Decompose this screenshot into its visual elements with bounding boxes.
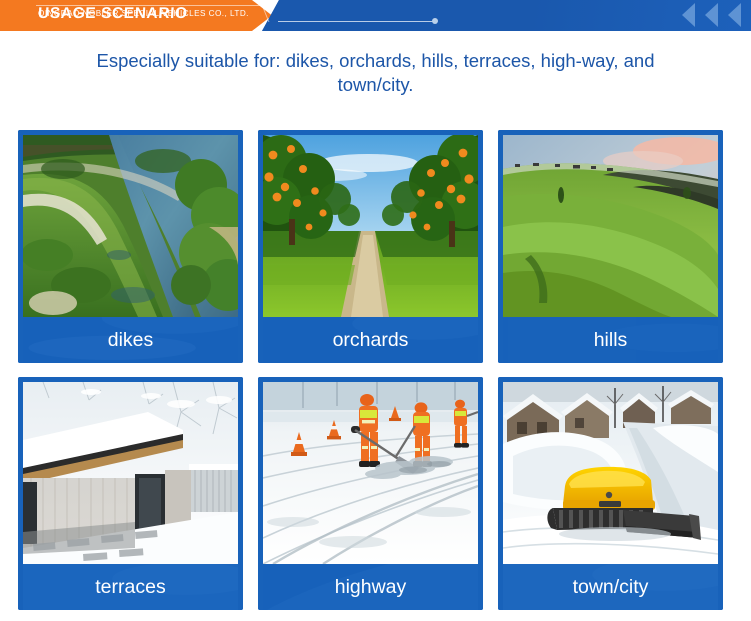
scene-image-orange-grove-rows bbox=[263, 135, 478, 317]
header-rule-top bbox=[36, 5, 268, 6]
card-label: highway bbox=[335, 576, 407, 599]
card-label: town/city bbox=[573, 576, 649, 599]
header-rule-bottom bbox=[278, 21, 434, 22]
scene-image-yellow-tracked-snow-plow-street bbox=[503, 382, 718, 564]
card-label: hills bbox=[594, 329, 628, 352]
scenario-card-highway[interactable]: highway bbox=[258, 377, 483, 610]
company-name: QINGDAO NOBLER SPECIAL VEHICLES CO., LTD… bbox=[38, 9, 249, 18]
scenario-card-hills[interactable]: hills bbox=[498, 130, 723, 363]
scenario-card-town-city[interactable]: town/city bbox=[498, 377, 723, 610]
page-headline: Especially suitable for: dikes, orchards… bbox=[76, 49, 676, 97]
card-caption-orchards: orchards bbox=[263, 317, 478, 363]
card-label: dikes bbox=[108, 329, 154, 352]
scene-image-snow-covered-house-terrace bbox=[23, 382, 238, 564]
page-header: USAGE SCENARIO QINGDAO NOBLER SPECIAL VE… bbox=[0, 0, 751, 31]
card-caption-highway: highway bbox=[263, 564, 478, 610]
header-dot-marker bbox=[432, 18, 438, 24]
chevron-left-icon bbox=[728, 3, 741, 27]
chevron-group bbox=[669, 0, 745, 31]
card-caption-hills: hills bbox=[503, 317, 718, 363]
scenario-card-orchards[interactable]: orchards bbox=[258, 130, 483, 363]
card-label: orchards bbox=[333, 329, 409, 352]
card-caption-town-city: town/city bbox=[503, 564, 718, 610]
card-label: terraces bbox=[95, 576, 165, 599]
scenario-card-grid: dikes bbox=[18, 130, 733, 610]
chevron-left-icon bbox=[705, 3, 718, 27]
card-caption-terraces: terraces bbox=[23, 564, 238, 610]
scene-image-workers-clearing-snow-road bbox=[263, 382, 478, 564]
scene-image-aerial-river-dike bbox=[23, 135, 238, 317]
scene-image-rolling-green-hills bbox=[503, 135, 718, 317]
card-caption-dikes: dikes bbox=[23, 317, 238, 363]
scenario-card-terraces[interactable]: terraces bbox=[18, 377, 243, 610]
scenario-card-dikes[interactable]: dikes bbox=[18, 130, 243, 363]
chevron-left-icon bbox=[682, 3, 695, 27]
